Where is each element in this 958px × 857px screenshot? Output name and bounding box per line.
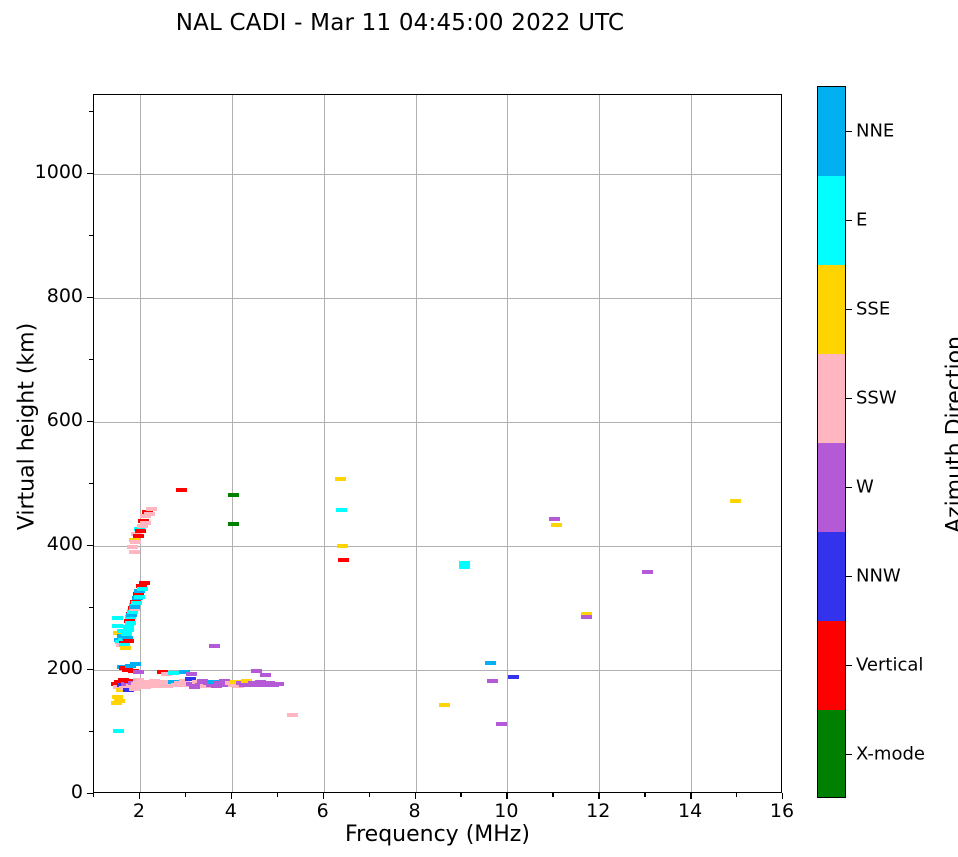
colorbar-segment-nnw [818, 532, 845, 621]
echo-mark [137, 587, 148, 591]
x-tick [690, 793, 691, 799]
echo-mark [228, 522, 239, 526]
x-tick-label: 4 [201, 800, 261, 822]
colorbar-label-vertical: Vertical [856, 654, 923, 675]
echo-mark [123, 639, 134, 643]
x-tick [598, 793, 599, 799]
colorbar-tick [846, 487, 852, 488]
echo-mark [581, 615, 592, 619]
echo-mark [129, 550, 140, 554]
echo-mark [135, 529, 146, 533]
colorbar-segment-w [818, 443, 845, 532]
y-tick-label: 0 [13, 781, 83, 803]
y-tick-label: 200 [13, 657, 83, 679]
echo-mark [120, 646, 131, 650]
echo-mark [338, 558, 349, 562]
echo-mark [111, 701, 122, 705]
colorbar-label-x-mode: X-mode [856, 743, 925, 764]
echo-mark [131, 601, 142, 605]
echo-mark [287, 713, 298, 717]
echo-mark [112, 616, 123, 620]
x-tick-label: 2 [109, 800, 169, 822]
echo-mark [335, 477, 346, 481]
y-tick [87, 545, 93, 546]
azimuth-colorbar [817, 86, 846, 798]
y-tick [89, 235, 93, 236]
echo-mark [485, 661, 496, 665]
x-tick-label: 10 [476, 800, 536, 822]
echo-mark [127, 545, 138, 549]
colorbar-label-sse: SSE [856, 298, 890, 319]
echo-mark [487, 679, 498, 683]
y-tick [89, 607, 93, 608]
echo-mark [730, 499, 741, 503]
colorbar-label-w: W [856, 476, 874, 497]
echo-mark [336, 508, 347, 512]
x-axis-label: Frequency (MHz) [93, 822, 782, 847]
x-tick [93, 793, 94, 797]
x-tick [736, 793, 737, 797]
colorbar-segment-sse [818, 265, 845, 354]
colorbar-tick [846, 665, 852, 666]
echo-scatter-layer [94, 95, 781, 792]
ionogram-figure: NAL CADI - Mar 11 04:45:00 2022 UTC 2468… [0, 0, 958, 857]
echo-mark [186, 672, 197, 676]
y-tick [87, 421, 93, 422]
colorbar-segment-x-mode [818, 710, 845, 798]
x-tick [552, 793, 553, 797]
colorbar-segment-vertical [818, 621, 845, 710]
x-tick-label: 8 [385, 800, 445, 822]
y-axis-label: Virtual height (km) [15, 267, 40, 587]
echo-mark [133, 670, 144, 674]
echo-mark [133, 534, 144, 538]
y-tick [87, 669, 93, 670]
echo-mark [113, 729, 124, 733]
x-tick [415, 793, 416, 799]
colorbar-tick [846, 576, 852, 577]
x-tick [277, 793, 278, 797]
colorbar-tick [846, 398, 852, 399]
echo-mark [144, 512, 155, 516]
x-tick [644, 793, 645, 797]
echo-mark [642, 570, 653, 574]
x-tick [139, 793, 140, 799]
echo-mark [146, 507, 157, 511]
echo-mark [140, 521, 151, 525]
echo-mark [112, 624, 123, 628]
echo-mark [130, 662, 141, 666]
echo-mark [508, 675, 519, 679]
echo-mark [273, 682, 284, 686]
y-tick [87, 173, 93, 174]
y-tick-label: 1000 [13, 161, 83, 183]
x-tick [460, 793, 461, 797]
y-tick [89, 359, 93, 360]
y-tick [87, 297, 93, 298]
colorbar-segment-ssw [818, 354, 845, 443]
x-tick [506, 793, 507, 799]
echo-mark [228, 493, 239, 497]
y-tick [87, 793, 93, 794]
x-tick-label: 6 [293, 800, 353, 822]
colorbar-segment-nne [818, 87, 845, 176]
echo-mark [209, 644, 220, 648]
y-tick [89, 483, 93, 484]
echo-mark [549, 517, 560, 521]
x-tick [782, 793, 783, 799]
echo-mark [459, 565, 470, 569]
x-tick-label: 16 [752, 800, 812, 822]
echo-mark [139, 581, 150, 585]
x-tick [323, 793, 324, 799]
echo-mark [130, 540, 141, 544]
colorbar-tick [846, 131, 852, 132]
colorbar-label-ssw: SSW [856, 387, 897, 408]
y-tick [89, 111, 93, 112]
colorbar-label-e: E [856, 209, 867, 230]
plot-area [93, 94, 782, 793]
colorbar-segment-e [818, 176, 845, 265]
echo-mark [439, 703, 450, 707]
echo-mark [260, 673, 271, 677]
echo-mark [168, 671, 179, 675]
echo-mark [496, 722, 507, 726]
colorbar-title: Azimuth Direction [943, 275, 958, 595]
page-title: NAL CADI - Mar 11 04:45:00 2022 UTC [0, 10, 800, 36]
x-tick-label: 12 [568, 800, 628, 822]
colorbar-tick [846, 754, 852, 755]
colorbar-tick [846, 220, 852, 221]
x-tick [369, 793, 370, 797]
y-tick [89, 731, 93, 732]
echo-mark [123, 628, 134, 632]
colorbar-label-nne: NNE [856, 120, 894, 141]
echo-mark [134, 595, 145, 599]
echo-mark [551, 523, 562, 527]
colorbar-label-nnw: NNW [856, 565, 901, 586]
echo-mark [125, 621, 136, 625]
echo-mark [176, 488, 187, 492]
echo-mark [337, 544, 348, 548]
x-tick [231, 793, 232, 799]
echo-mark [129, 605, 140, 609]
x-tick [185, 793, 186, 797]
colorbar-tick [846, 309, 852, 310]
x-tick-label: 14 [660, 800, 720, 822]
